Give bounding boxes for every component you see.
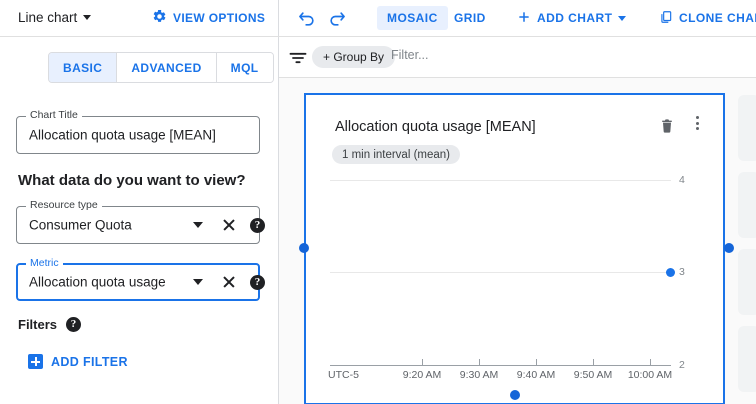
gridline-3: [330, 272, 671, 273]
metric-value[interactable]: Allocation quota usage: [29, 275, 166, 290]
y-tick-label-3: 3: [679, 266, 685, 278]
add-filter-button[interactable]: ADD FILTER: [28, 354, 128, 369]
x-tick-label: 9:40 AM: [517, 369, 556, 381]
plus-icon: [28, 354, 43, 369]
group-by-chip[interactable]: + Group By: [312, 46, 395, 68]
add-chart-chevron-down-icon: [618, 16, 626, 21]
x-tick-label: 9:30 AM: [460, 369, 499, 381]
metric-chevron-down-icon[interactable]: [193, 279, 203, 285]
clone-chart-label: CLONE CHART: [679, 11, 756, 25]
chart-type-dropdown[interactable]: Line chart: [18, 10, 91, 25]
resource-type-clear-icon[interactable]: [221, 217, 237, 233]
chart-plot-area: 4 3 2 UTC-5 9:20 AM 9:30 AM 9:40 AM 9: [306, 95, 727, 404]
add-chart-label: ADD CHART: [537, 11, 612, 25]
metric-field[interactable]: Metric Allocation quota usage ?: [16, 263, 260, 301]
side-panel-card[interactable]: [738, 326, 756, 392]
x-tick-label: 10:00 AM: [628, 369, 672, 381]
x-tick-mark: [536, 359, 537, 365]
plus-sign-icon: [517, 10, 531, 27]
view-options-label: VIEW OPTIONS: [173, 11, 265, 25]
x-tick-mark: [593, 359, 594, 365]
resize-handle-left[interactable]: [299, 243, 309, 253]
filters-label: Filters: [18, 317, 57, 332]
y-tick-label-4: 4: [679, 174, 685, 186]
chart-title-label: Chart Title: [26, 109, 82, 121]
chart-title-input[interactable]: Allocation quota usage [MEAN]: [29, 128, 216, 143]
x-tick-label: 9:50 AM: [574, 369, 613, 381]
copy-icon: [659, 10, 673, 27]
clone-chart-button[interactable]: CLONE CHART: [649, 6, 756, 30]
resize-handle-right[interactable]: [724, 243, 734, 253]
gridline-4: [330, 180, 671, 181]
side-panel-card[interactable]: [738, 249, 756, 315]
resource-type-chevron-down-icon[interactable]: [193, 222, 203, 228]
filter-input[interactable]: Filter...: [391, 48, 429, 62]
y-tick-label-2: 2: [679, 359, 685, 371]
tab-mql[interactable]: MQL: [217, 53, 273, 82]
data-point[interactable]: [666, 268, 675, 277]
chart-type-label: Line chart: [18, 10, 77, 25]
dashboard-filter-bar: + Group By Filter...: [279, 37, 756, 78]
x-tick-mark: [479, 359, 480, 365]
chart-card[interactable]: Allocation quota usage [MEAN] 1 min inte…: [304, 93, 725, 404]
dashboard-toolbar: MOSAIC GRID ADD CHART: [279, 0, 756, 37]
editor-tabs: BASIC ADVANCED MQL: [48, 52, 274, 83]
resource-type-help-icon[interactable]: ?: [250, 218, 265, 233]
mosaic-label: MOSAIC: [387, 11, 438, 25]
metric-label: Metric: [26, 257, 63, 269]
filters-help-icon[interactable]: ?: [66, 317, 81, 332]
chart-editor-panel: Line chart VIEW OPTIONS BASIC ADVANCED M…: [0, 0, 279, 404]
chart-title-field[interactable]: Chart Title Allocation quota usage [MEAN…: [16, 116, 260, 154]
tab-basic[interactable]: BASIC: [49, 53, 117, 82]
metric-clear-icon[interactable]: [221, 274, 237, 290]
view-options-button[interactable]: VIEW OPTIONS: [152, 9, 265, 27]
tab-advanced[interactable]: ADVANCED: [117, 53, 216, 82]
undo-button[interactable]: [297, 9, 317, 29]
chevron-down-icon: [83, 15, 91, 20]
mosaic-layout-button[interactable]: MOSAIC: [377, 6, 448, 30]
chart-canvas: Allocation quota usage [MEAN] 1 min inte…: [279, 78, 756, 404]
filters-section: Filters ?: [18, 317, 81, 332]
redo-button[interactable]: [327, 9, 347, 29]
editor-header: Line chart VIEW OPTIONS: [0, 0, 279, 37]
grid-label: GRID: [454, 11, 486, 25]
grid-layout-button[interactable]: GRID: [444, 6, 496, 30]
x-tick-mark: [422, 359, 423, 365]
x-axis-line: [330, 365, 671, 366]
filter-icon[interactable]: [288, 48, 308, 73]
timezone-label: UTC-5: [328, 369, 359, 381]
dashboard-area: MOSAIC GRID ADD CHART: [279, 0, 756, 404]
side-panel-card[interactable]: [738, 172, 756, 238]
app-root: Line chart VIEW OPTIONS BASIC ADVANCED M…: [0, 0, 756, 404]
side-panel-card[interactable]: [738, 95, 756, 161]
x-tick-mark: [650, 359, 651, 365]
metric-help-icon[interactable]: ?: [250, 275, 265, 290]
add-chart-button[interactable]: ADD CHART: [507, 6, 636, 30]
resource-type-value[interactable]: Consumer Quota: [29, 218, 132, 233]
resource-type-field[interactable]: Resource type Consumer Quota ?: [16, 206, 260, 244]
resize-handle-bottom[interactable]: [510, 390, 520, 400]
gear-icon: [152, 9, 167, 27]
section-heading: What data do you want to view?: [18, 172, 246, 189]
add-filter-label: ADD FILTER: [51, 355, 128, 369]
resource-type-label: Resource type: [26, 199, 102, 211]
x-tick-label: 9:20 AM: [403, 369, 442, 381]
